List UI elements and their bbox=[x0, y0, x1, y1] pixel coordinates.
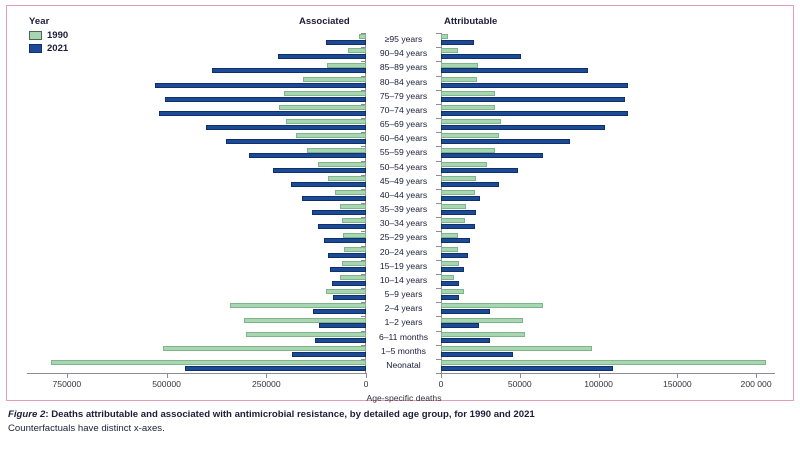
legend-title: Year bbox=[29, 16, 68, 27]
x-axis-tick-label: 0 bbox=[439, 379, 444, 389]
bar-1990 bbox=[441, 91, 495, 96]
bar-row bbox=[27, 76, 366, 90]
bar-1990 bbox=[342, 261, 366, 266]
bar-1990 bbox=[284, 91, 366, 96]
x-axis-tick bbox=[67, 374, 68, 378]
bar-2021 bbox=[441, 253, 468, 258]
bar-1990 bbox=[359, 34, 366, 39]
bar-2021 bbox=[441, 83, 628, 88]
bar-row bbox=[27, 302, 366, 316]
bar-rows-attributable bbox=[441, 33, 775, 373]
bar-row bbox=[27, 161, 366, 175]
bar-1990 bbox=[230, 303, 366, 308]
bar-2021 bbox=[333, 295, 366, 300]
age-group-label: 40–44 years bbox=[366, 189, 441, 203]
bar-1990 bbox=[441, 162, 487, 167]
bar-1990 bbox=[340, 275, 366, 280]
bar-2021 bbox=[326, 40, 366, 45]
bar-2021 bbox=[206, 125, 366, 130]
bar-2021 bbox=[226, 139, 366, 144]
bar-2021 bbox=[291, 182, 366, 187]
bar-1990 bbox=[279, 105, 366, 110]
bar-2021 bbox=[441, 366, 613, 371]
bar-row bbox=[441, 175, 775, 189]
age-group-label: 85–89 years bbox=[366, 61, 441, 75]
bar-row bbox=[27, 345, 366, 359]
age-group-label: 1–2 years bbox=[366, 316, 441, 330]
caption-line-1: Figure 2: Deaths attributable and associ… bbox=[8, 408, 788, 422]
bar-row bbox=[27, 33, 366, 47]
bar-rows-associated bbox=[27, 33, 366, 373]
bar-1990 bbox=[441, 204, 466, 209]
x-axis-tick-label: 100000 bbox=[584, 379, 613, 389]
bar-2021 bbox=[324, 238, 366, 243]
bar-2021 bbox=[441, 281, 459, 286]
bar-row bbox=[441, 189, 775, 203]
bar-row bbox=[441, 288, 775, 302]
bar-2021 bbox=[441, 40, 474, 45]
bar-row bbox=[441, 316, 775, 330]
bar-row bbox=[27, 217, 366, 231]
bar-1990 bbox=[441, 63, 478, 68]
age-group-label: 60–64 years bbox=[366, 132, 441, 146]
bar-2021 bbox=[441, 210, 476, 215]
bar-1990 bbox=[343, 233, 366, 238]
bar-1990 bbox=[441, 275, 454, 280]
figure-root: Year 1990 2021 Associated Attributable ≥… bbox=[0, 0, 800, 454]
bar-1990 bbox=[441, 77, 477, 82]
bar-row bbox=[27, 359, 366, 373]
x-axis-tick-label: 200 000 bbox=[741, 379, 772, 389]
panel-heading-associated: Associated bbox=[299, 16, 350, 27]
bar-1990 bbox=[441, 360, 766, 365]
x-axis-associated bbox=[27, 373, 367, 374]
age-group-labels: ≥95 years90–94 years85–89 years80–84 yea… bbox=[366, 33, 441, 373]
bar-2021 bbox=[249, 153, 366, 158]
x-axis-tick bbox=[599, 374, 600, 378]
x-axis-tick bbox=[520, 374, 521, 378]
bar-row bbox=[441, 161, 775, 175]
x-axis-tick bbox=[266, 374, 267, 378]
bar-2021 bbox=[318, 224, 366, 229]
bar-row bbox=[27, 61, 366, 75]
bar-1990 bbox=[441, 289, 464, 294]
age-group-label: 10–14 years bbox=[366, 274, 441, 288]
bar-1990 bbox=[335, 190, 366, 195]
bar-1990 bbox=[441, 261, 459, 266]
bar-1990 bbox=[441, 133, 499, 138]
x-axis-title: Age-specific deaths bbox=[367, 393, 442, 403]
bar-2021 bbox=[441, 97, 625, 102]
caption-figure-label: Figure 2 bbox=[8, 409, 45, 420]
age-group-label: 6–11 months bbox=[366, 331, 441, 345]
age-group-label: 70–74 years bbox=[366, 104, 441, 118]
bar-2021 bbox=[155, 83, 366, 88]
bar-row bbox=[441, 76, 775, 90]
age-group-label: 30–34 years bbox=[366, 217, 441, 231]
bar-row bbox=[27, 118, 366, 132]
bar-2021 bbox=[441, 168, 518, 173]
bar-1990 bbox=[441, 176, 476, 181]
bar-row bbox=[441, 90, 775, 104]
bar-1990 bbox=[244, 318, 366, 323]
bar-row bbox=[27, 104, 366, 118]
bar-2021 bbox=[313, 309, 366, 314]
x-axis-tick bbox=[167, 374, 168, 378]
bar-row bbox=[27, 246, 366, 260]
bar-2021 bbox=[441, 295, 459, 300]
bar-2021 bbox=[441, 338, 490, 343]
bar-row bbox=[27, 260, 366, 274]
x-axis-tick bbox=[756, 374, 757, 378]
age-group-label: 75–79 years bbox=[366, 90, 441, 104]
x-axis-tick-label: 150000 bbox=[663, 379, 692, 389]
bar-row bbox=[441, 146, 775, 160]
bar-2021 bbox=[441, 238, 470, 243]
bar-2021 bbox=[328, 253, 366, 258]
bar-row bbox=[441, 274, 775, 288]
bar-1990 bbox=[246, 332, 366, 337]
bar-1990 bbox=[441, 233, 458, 238]
bar-row bbox=[27, 189, 366, 203]
bar-2021 bbox=[302, 196, 366, 201]
bar-row bbox=[441, 104, 775, 118]
bar-1990 bbox=[327, 63, 366, 68]
bar-1990 bbox=[441, 332, 525, 337]
caption-line-2: Counterfactuals have distinct x-axes. bbox=[8, 422, 788, 436]
bar-row bbox=[441, 302, 775, 316]
bar-1990 bbox=[441, 105, 495, 110]
bar-2021 bbox=[312, 210, 366, 215]
bar-1990 bbox=[441, 318, 523, 323]
bar-2021 bbox=[441, 309, 490, 314]
bar-2021 bbox=[319, 323, 366, 328]
bar-row bbox=[441, 203, 775, 217]
age-group-label: 45–49 years bbox=[366, 175, 441, 189]
age-group-label: Neonatal bbox=[366, 359, 441, 373]
figure-caption: Figure 2: Deaths attributable and associ… bbox=[8, 408, 788, 435]
bar-1990 bbox=[328, 176, 366, 181]
bar-2021 bbox=[212, 68, 366, 73]
bar-2021 bbox=[441, 182, 499, 187]
bar-1990 bbox=[441, 48, 458, 53]
bar-2021 bbox=[185, 366, 366, 371]
bar-row bbox=[441, 118, 775, 132]
bar-2021 bbox=[278, 54, 366, 59]
bar-row bbox=[27, 90, 366, 104]
x-axis-attributable bbox=[441, 373, 775, 374]
bar-1990 bbox=[303, 77, 366, 82]
age-group-label: 80–84 years bbox=[366, 76, 441, 90]
bar-2021 bbox=[159, 111, 366, 116]
age-group-label: 15–19 years bbox=[366, 260, 441, 274]
bar-row bbox=[441, 231, 775, 245]
bar-row bbox=[441, 246, 775, 260]
figure-panel: Year 1990 2021 Associated Attributable ≥… bbox=[6, 5, 794, 401]
plot-associated bbox=[27, 33, 366, 373]
bar-2021 bbox=[441, 323, 479, 328]
x-axis-tick-label: 500000 bbox=[152, 379, 181, 389]
bar-row bbox=[441, 61, 775, 75]
bar-row bbox=[27, 175, 366, 189]
bar-row bbox=[27, 331, 366, 345]
bar-2021 bbox=[441, 352, 513, 357]
bar-2021 bbox=[292, 352, 366, 357]
bar-1990 bbox=[441, 148, 495, 153]
bar-1990 bbox=[441, 346, 592, 351]
age-group-label: 25–29 years bbox=[366, 231, 441, 245]
x-axis-tick-label: 250000 bbox=[252, 379, 281, 389]
bar-row bbox=[27, 47, 366, 61]
bar-1990 bbox=[51, 360, 366, 365]
bar-row bbox=[441, 359, 775, 373]
bar-2021 bbox=[315, 338, 366, 343]
bar-2021 bbox=[441, 196, 480, 201]
bar-1990 bbox=[296, 133, 366, 138]
x-axis-tick bbox=[366, 374, 367, 378]
bar-1990 bbox=[340, 204, 366, 209]
x-axis-tick bbox=[441, 374, 442, 378]
plot-attributable bbox=[441, 33, 775, 373]
bar-1990 bbox=[441, 190, 475, 195]
age-group-label: 5–9 years bbox=[366, 288, 441, 302]
bar-row bbox=[27, 288, 366, 302]
bar-1990 bbox=[318, 162, 366, 167]
bar-1990 bbox=[342, 218, 366, 223]
bar-row bbox=[441, 33, 775, 47]
age-group-label: 2–4 years bbox=[366, 302, 441, 316]
bar-row bbox=[27, 203, 366, 217]
panel-heading-attributable: Attributable bbox=[444, 16, 497, 27]
bar-row bbox=[441, 260, 775, 274]
age-group-label: 90–94 years bbox=[366, 47, 441, 61]
bar-2021 bbox=[332, 281, 366, 286]
bar-2021 bbox=[441, 125, 605, 130]
age-group-label: 35–39 years bbox=[366, 203, 441, 217]
bar-1990 bbox=[307, 148, 366, 153]
bar-row bbox=[441, 345, 775, 359]
bar-2021 bbox=[441, 139, 570, 144]
x-axis-tick-label: 0 bbox=[364, 379, 369, 389]
bar-row bbox=[27, 146, 366, 160]
bar-row bbox=[27, 231, 366, 245]
bar-1990 bbox=[441, 303, 543, 308]
age-group-label: 55–59 years bbox=[366, 146, 441, 160]
bar-2021 bbox=[441, 54, 521, 59]
bar-2021 bbox=[330, 267, 366, 272]
bar-row bbox=[441, 132, 775, 146]
bar-2021 bbox=[441, 111, 628, 116]
bar-row bbox=[441, 47, 775, 61]
bar-2021 bbox=[441, 224, 475, 229]
bar-1990 bbox=[441, 34, 448, 39]
x-axis-tick-label: 50000 bbox=[508, 379, 532, 389]
caption-main-text: : Deaths attributable and associated wit… bbox=[45, 409, 534, 420]
bar-1990 bbox=[326, 289, 366, 294]
bar-row bbox=[441, 217, 775, 231]
bar-1990 bbox=[441, 247, 458, 252]
bar-row bbox=[27, 274, 366, 288]
bar-1990 bbox=[348, 48, 366, 53]
age-group-label: 65–69 years bbox=[366, 118, 441, 132]
bar-row bbox=[27, 316, 366, 330]
bar-1990 bbox=[441, 119, 501, 124]
age-group-label: 1–5 months bbox=[366, 345, 441, 359]
age-group-label: ≥95 years bbox=[366, 33, 441, 47]
bar-row bbox=[27, 132, 366, 146]
age-group-label: 20–24 years bbox=[366, 246, 441, 260]
bar-2021 bbox=[441, 267, 464, 272]
bar-2021 bbox=[441, 153, 543, 158]
bar-2021 bbox=[165, 97, 366, 102]
x-axis-tick bbox=[677, 374, 678, 378]
bar-1990 bbox=[441, 218, 465, 223]
bar-2021 bbox=[441, 68, 588, 73]
age-group-label: 50–54 years bbox=[366, 161, 441, 175]
bar-row bbox=[441, 331, 775, 345]
bar-1990 bbox=[163, 346, 366, 351]
bar-1990 bbox=[286, 119, 366, 124]
x-axis-tick-label: 750000 bbox=[53, 379, 82, 389]
bar-1990 bbox=[344, 247, 366, 252]
bar-2021 bbox=[273, 168, 366, 173]
